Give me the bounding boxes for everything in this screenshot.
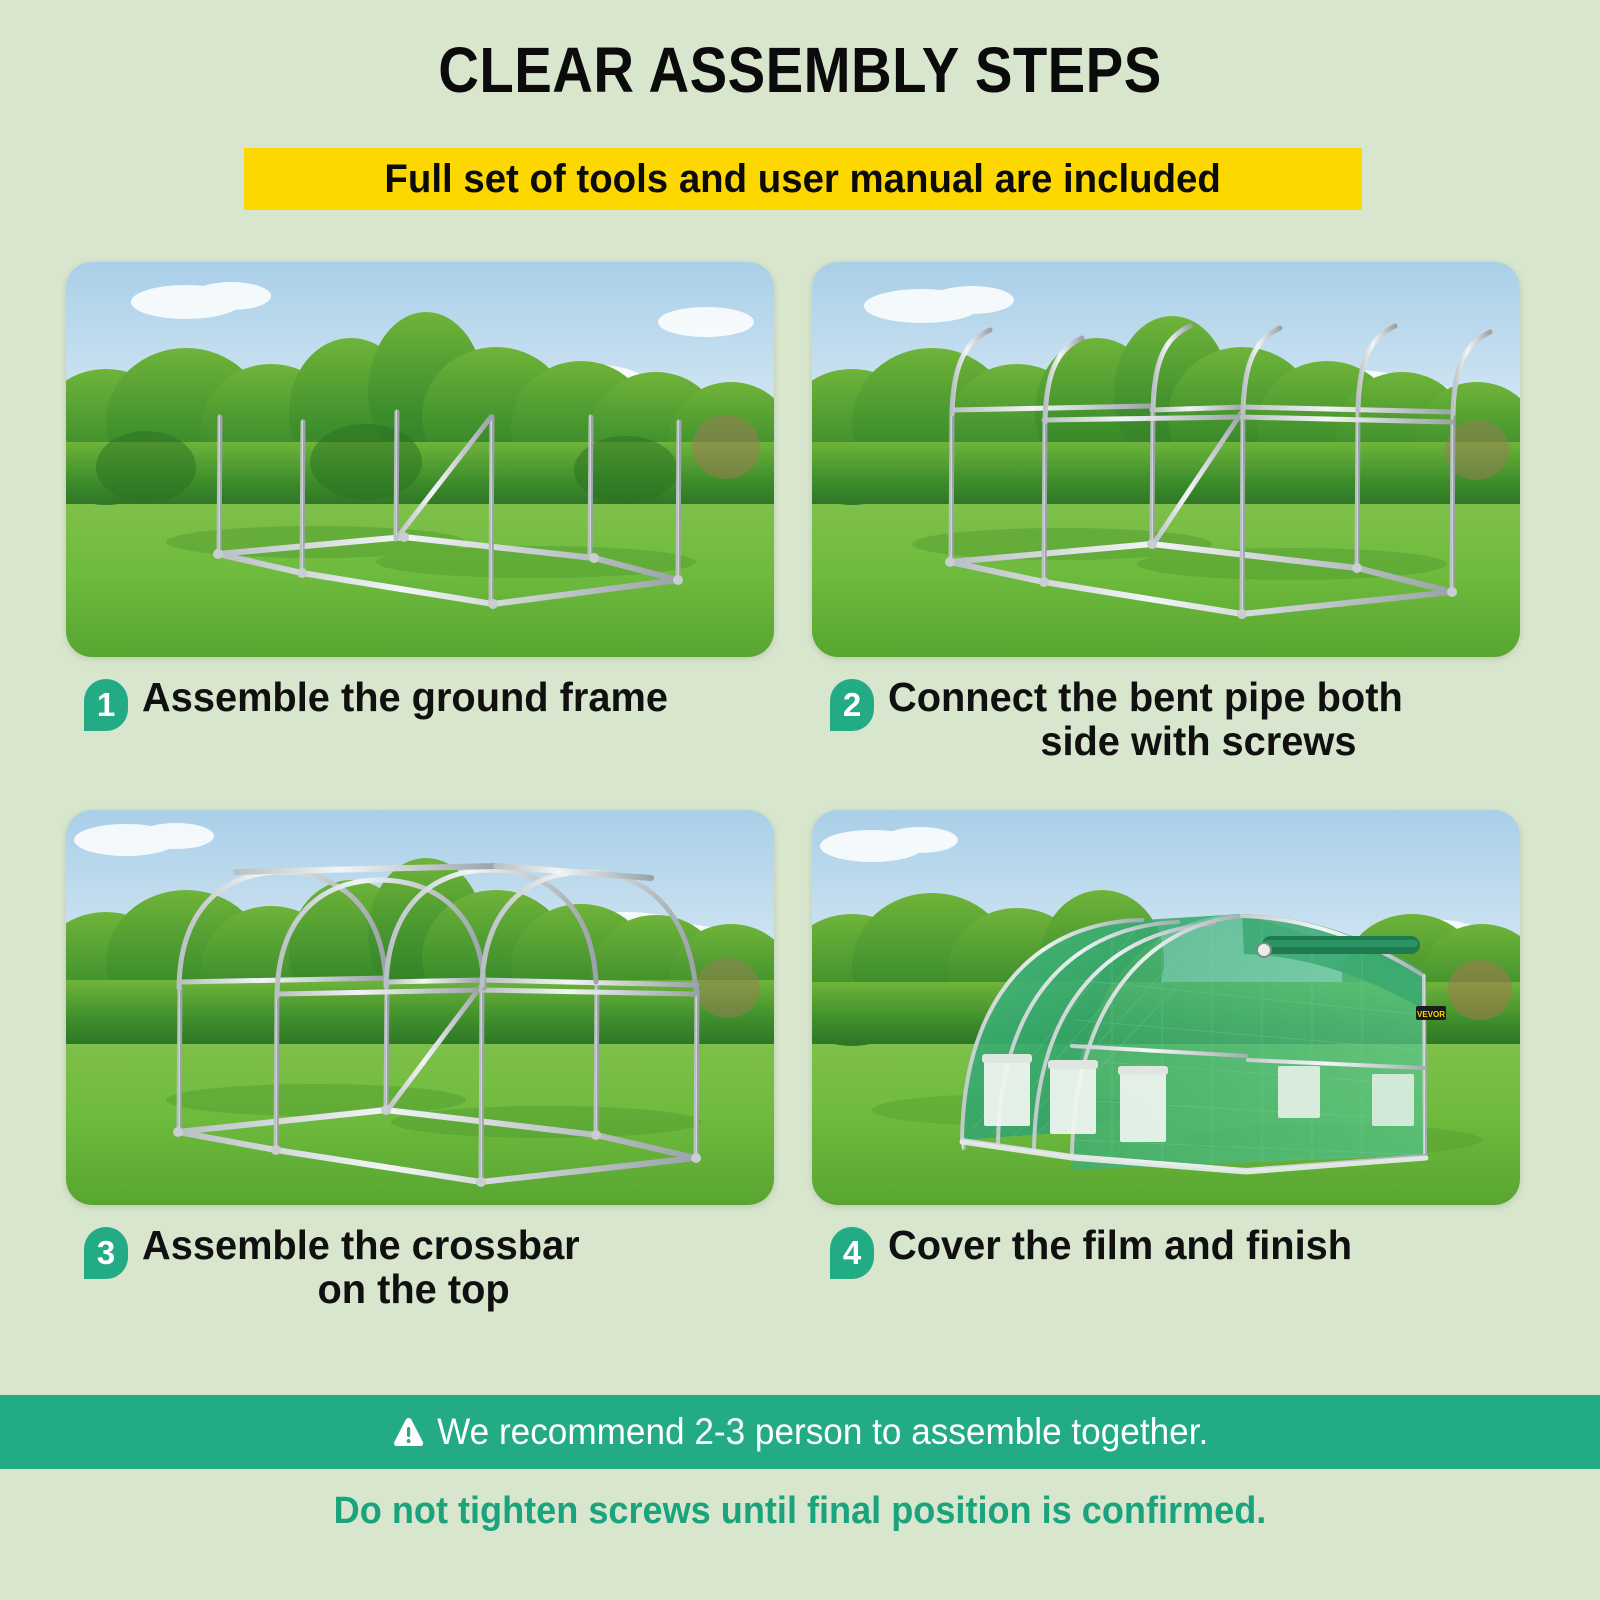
step-image-3	[66, 810, 774, 1205]
step-caption-text-3: Assemble the crossbar on the top	[142, 1223, 685, 1312]
step-caption-4: 4 Cover the film and finish	[800, 1223, 1552, 1279]
step-caption-1: 1 Assemble the ground frame	[66, 675, 818, 731]
step-caption-line1-2: Connect the bent pipe both	[888, 674, 1403, 720]
step-card-2: 2 Connect the bent pipe both side with s…	[800, 262, 1552, 764]
recommendation-text: We recommend 2-3 person to assemble toge…	[437, 1411, 1208, 1453]
svg-text:VEVOR: VEVOR	[1417, 1010, 1445, 1019]
step-card-1: 1 Assemble the ground frame	[66, 262, 818, 731]
step-caption-3: 3 Assemble the crossbar on the top	[66, 1223, 818, 1312]
step-caption-line2-3: on the top	[142, 1267, 685, 1311]
recommendation-bar: We recommend 2-3 person to assemble toge…	[0, 1395, 1600, 1469]
subtitle-banner: Full set of tools and user manual are in…	[244, 148, 1362, 210]
step-card-3: 3 Assemble the crossbar on the top	[66, 810, 818, 1312]
footnote-text: Do not tighten screws until final positi…	[40, 1490, 1560, 1533]
recommendation-text-wrap: We recommend 2-3 person to assemble toge…	[392, 1411, 1208, 1453]
warning-triangle-icon	[392, 1416, 424, 1448]
step-number-badge-4: 4	[830, 1227, 874, 1279]
step-caption-line1-4: Cover the film and finish	[888, 1222, 1352, 1268]
step-caption-line1-1: Assemble the ground frame	[142, 674, 668, 720]
step-number-badge-3: 3	[84, 1227, 128, 1279]
step-card-4: VEVOR 4 Cover the film and finish	[800, 810, 1552, 1279]
subtitle-text: Full set of tools and user manual are in…	[385, 157, 1221, 202]
step-caption-text-4: Cover the film and finish	[888, 1223, 1352, 1267]
page-title: CLEAR ASSEMBLY STEPS	[96, 38, 1504, 102]
step-image-4: VEVOR	[812, 810, 1520, 1205]
infographic-page: CLEAR ASSEMBLY STEPS Full set of tools a…	[0, 0, 1600, 1600]
step-caption-2: 2 Connect the bent pipe both side with s…	[800, 675, 1552, 764]
step-caption-text-2: Connect the bent pipe both side with scr…	[888, 675, 1509, 764]
step-number-badge-1: 1	[84, 679, 128, 731]
step-image-2	[812, 262, 1520, 657]
step-caption-line2-2: side with screws	[888, 719, 1509, 763]
step-number-badge-2: 2	[830, 679, 874, 731]
step-caption-text-1: Assemble the ground frame	[142, 675, 668, 719]
step-image-1	[66, 262, 774, 657]
step-caption-line1-3: Assemble the crossbar	[142, 1222, 580, 1268]
